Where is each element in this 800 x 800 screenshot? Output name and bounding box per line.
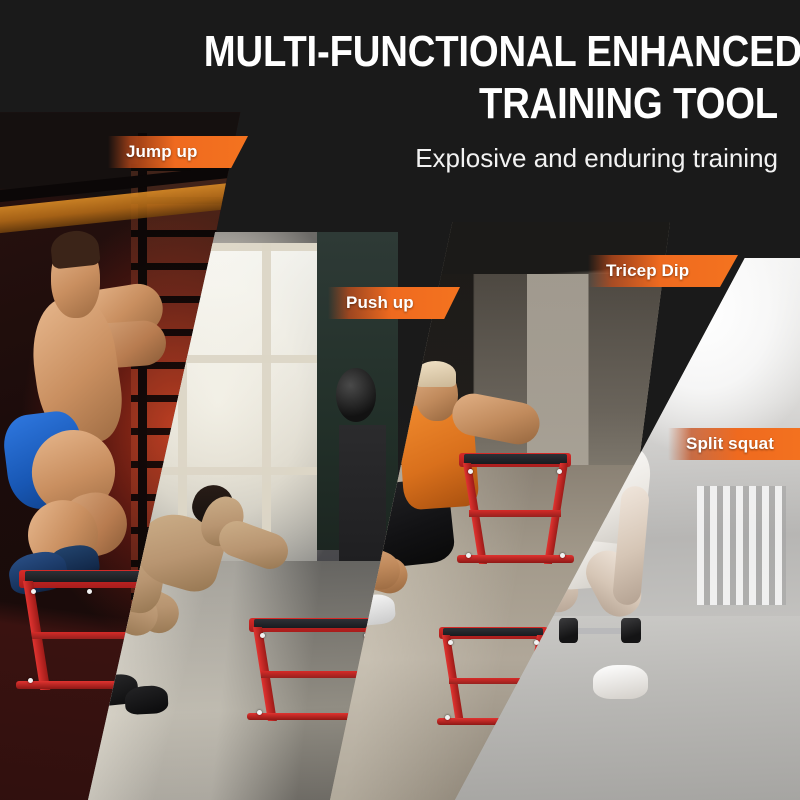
plyo-box-cross-rail bbox=[469, 510, 561, 517]
plyo-box-bolt bbox=[448, 640, 453, 645]
plyo-box-pad bbox=[254, 619, 374, 628]
plyo-box-cross-rail bbox=[261, 671, 368, 677]
headline-block: MULTI-FUNCTIONAL ENHANCED TRAINING TOOL … bbox=[118, 26, 778, 174]
label-push-up-text: Push up bbox=[346, 293, 414, 313]
headline-line-1: MULTI-FUNCTIONAL ENHANCED bbox=[204, 26, 778, 78]
label-split-squat[interactable]: Split squat bbox=[668, 428, 800, 460]
dumbbell-weight-left bbox=[559, 618, 579, 643]
dumbbell-bar bbox=[577, 628, 623, 634]
plyo-box-bolt bbox=[260, 633, 265, 638]
plyo-box-base bbox=[457, 555, 574, 563]
plyo-box-bolt bbox=[28, 678, 33, 683]
plyo-box-bolt bbox=[87, 589, 92, 594]
athlete-shoe-front bbox=[124, 685, 169, 716]
plyo-box-bolt bbox=[466, 553, 471, 558]
label-tricep-dip[interactable]: Tricep Dip bbox=[588, 255, 738, 287]
plyo-box-pad bbox=[443, 628, 543, 637]
athlete-hair bbox=[415, 361, 456, 388]
studio-radiator bbox=[697, 486, 787, 605]
dumbbell-prop bbox=[559, 618, 642, 643]
headline-line-2: TRAINING TOOL bbox=[204, 78, 778, 130]
dumbbell-weight-right bbox=[621, 618, 641, 643]
athlete-shoe-front bbox=[593, 665, 648, 700]
plyo-box-bolt bbox=[468, 469, 473, 474]
plyo-box-bolt bbox=[31, 589, 36, 594]
plyo-box-product bbox=[459, 453, 571, 563]
promo-banner: Jump up Push up Tricep Dip Split squat M… bbox=[0, 0, 800, 800]
plyo-box-pad bbox=[464, 454, 567, 464]
headline-subtitle: Explosive and enduring training bbox=[118, 142, 778, 174]
plyo-box-bolt bbox=[560, 553, 565, 558]
label-tricep-dip-text: Tricep Dip bbox=[606, 261, 689, 281]
label-split-squat-text: Split squat bbox=[686, 434, 774, 454]
label-push-up[interactable]: Push up bbox=[328, 287, 460, 319]
